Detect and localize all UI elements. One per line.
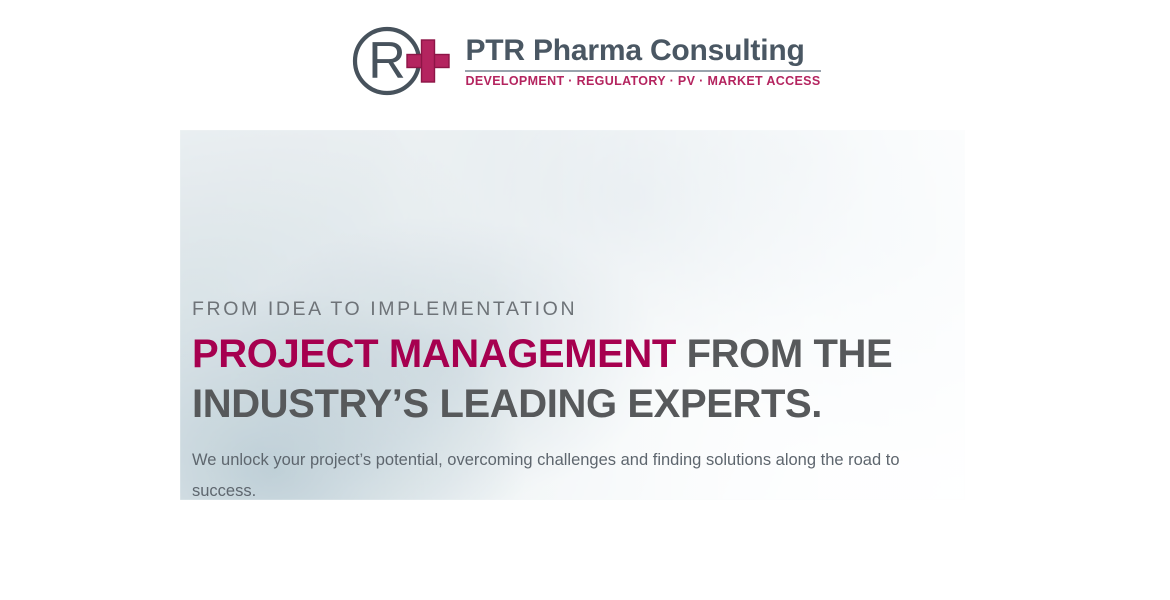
- brand-lockup-text: PTR Pharma Consulting DEVELOPMENT · REGU…: [465, 33, 820, 89]
- hero-banner: FROM IDEA TO IMPLEMENTATION PROJECT MANA…: [180, 130, 965, 500]
- hero-eyebrow: FROM IDEA TO IMPLEMENTATION: [192, 298, 962, 321]
- hero-headline-accent: PROJECT MANAGEMENT: [192, 332, 676, 376]
- hero-lede: We unlock your project’s potential, over…: [192, 445, 952, 500]
- brand-logo[interactable]: R PTR Pharma Consulting DEVELOPMENT · RE…: [349, 25, 820, 97]
- hero-content: FROM IDEA TO IMPLEMENTATION PROJECT MANA…: [192, 298, 962, 500]
- brand-divider: [465, 70, 820, 72]
- brand-tagline: DEVELOPMENT · REGULATORY · PV · MARKET A…: [465, 75, 820, 89]
- hero-headline: PROJECT MANAGEMENT FROM THE INDUSTRY’S L…: [192, 330, 962, 428]
- circled-r-plus-icon: R: [349, 25, 453, 97]
- svg-text:R: R: [369, 32, 407, 90]
- site-header: R PTR Pharma Consulting DEVELOPMENT · RE…: [0, 0, 1170, 122]
- brand-name: PTR Pharma Consulting: [465, 35, 820, 67]
- page-root: R PTR Pharma Consulting DEVELOPMENT · RE…: [0, 0, 1170, 600]
